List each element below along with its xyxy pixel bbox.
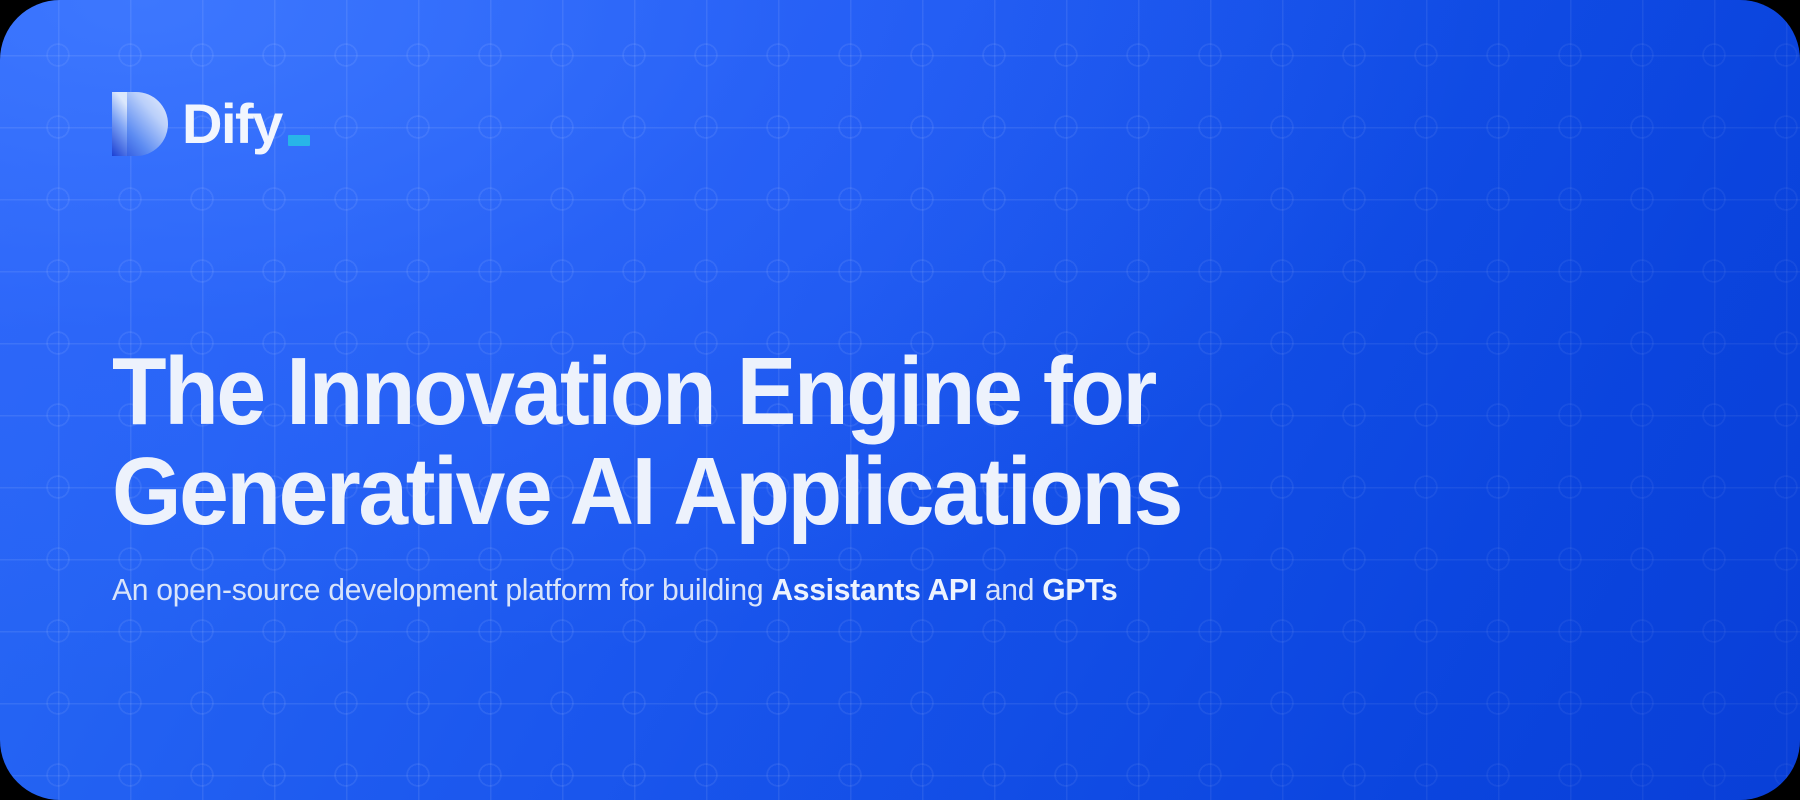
brand-wordmark: Dify [182,96,310,152]
dify-d-mark-icon [112,92,168,156]
brand-logo[interactable]: Dify [112,92,310,156]
subtitle-conjunction: and [985,572,1034,607]
subtitle-highlight-assistants-api: Assistants API [771,572,976,607]
headline-line-2: Generative AI Applications [112,442,1321,542]
headline-line-1: The Innovation Engine for [112,342,1321,442]
teal-underscore-icon [288,135,310,146]
hero-subtitle: An open-source development platform for … [112,570,1373,610]
subtitle-lead: An open-source development platform for … [112,572,763,607]
page-title: The Innovation Engine for Generative AI … [112,342,1321,542]
subtitle-highlight-gpts: GPTs [1042,572,1117,607]
hero-copy: The Innovation Engine for Generative AI … [112,342,1412,610]
hero-banner: Dify The Innovation Engine for Generativ… [0,0,1800,800]
brand-wordmark-text: Dify [182,96,282,152]
